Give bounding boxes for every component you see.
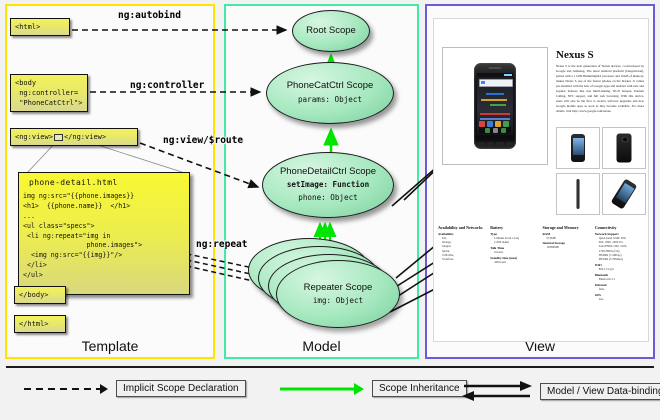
spec-column: Battery Type Lithium Ion (Li-Ion) (1500 … — [490, 225, 539, 301]
thumbnail-item[interactable] — [556, 127, 600, 169]
spec-value: true — [599, 297, 644, 301]
edge-label-controller: ng:controller — [130, 80, 204, 91]
spec-column-header: Storage and Memory — [543, 225, 592, 230]
spec-value: 6 hours — [494, 250, 539, 254]
spec-value: 16384MB — [547, 245, 592, 249]
spec-value: 512MB — [547, 236, 592, 240]
spec-table-columns: Availability and Networks Availability M… — [438, 225, 644, 301]
view-rendered-page: Nexus S Nexus S is the next generation o… — [433, 18, 649, 342]
phone-hero-icon — [474, 63, 516, 149]
legend-item-data-binding: Model / View Data-binding — [462, 380, 660, 402]
spec-value: 802.11 b/g/n — [599, 267, 644, 271]
code-box-html-close: </html> — [14, 315, 66, 333]
ngview-placeholder-icon — [54, 134, 63, 141]
spec-value: false — [599, 287, 644, 291]
phone-front-icon — [571, 134, 585, 162]
spec-column-header: Battery — [490, 225, 539, 230]
scope-node-root: Root Scope — [292, 10, 370, 52]
scope-name-phonedetailctrl: PhoneDetailCtrl Scope — [280, 167, 376, 178]
scope-prop-phone: phone: Object — [298, 193, 357, 203]
app-dock-icon — [479, 127, 511, 134]
code-box-phone-detail: phone-detail.htmlimg ng:src="{{phone.ima… — [18, 172, 190, 295]
thumbnail-grid — [556, 127, 644, 215]
code-box-filename: phone-detail.html — [29, 177, 185, 189]
thumbnail-item[interactable] — [602, 173, 646, 215]
search-widget-icon — [479, 79, 513, 87]
phone-earpiece-icon — [489, 67, 502, 69]
scope-node-phonedetailctrl: PhoneDetailCtrl Scope setImage: Function… — [262, 152, 394, 218]
edge-label-repeat: ng:repeat — [196, 239, 247, 250]
scope-name-repeater: Repeater Scope — [304, 283, 373, 294]
spec-column-header: Availability and Networks — [438, 225, 487, 230]
spec-column: Connectivity Network Support Quad-band G… — [595, 225, 644, 301]
code-box-source: img ng:src="{{phone.images}} <h1> {{phon… — [23, 192, 142, 289]
solid-arrow-icon — [278, 382, 364, 396]
spec-value: (1500 mAh) — [494, 240, 539, 244]
column-label-template: Template — [7, 338, 213, 354]
legend-label: Scope Inheritance — [372, 380, 467, 397]
scope-name-root: Root Scope — [306, 26, 356, 37]
phone-back-icon — [617, 134, 632, 163]
code-box-ngview: <ng:view></ng:view> — [10, 128, 138, 146]
legend-item-scope-inheritance: Scope Inheritance — [278, 380, 467, 397]
scope-prop-setimage-text: setImage: Function — [287, 180, 369, 189]
phone-side-icon — [577, 179, 580, 209]
status-bar-icon — [477, 73, 513, 77]
edge-label-autobind: ng:autobind — [118, 10, 181, 21]
phone-buttons-icon — [477, 142, 513, 147]
column-label-model: Model — [226, 338, 417, 354]
scope-name-phonecatctrl: PhoneCatCtrl Scope — [287, 81, 374, 92]
ngview-close-tag: </ng:view> — [64, 133, 106, 141]
scope-prop-img: img: Object — [313, 296, 363, 305]
ngview-open-tag: <ng:view> — [15, 133, 53, 141]
view-page-title: Nexus S — [556, 49, 594, 61]
spec-value: Vodafone — [442, 257, 487, 261]
view-page-description: Nexus S is the next generation of Nexus … — [556, 64, 644, 114]
legend-label: Model / View Data-binding — [540, 383, 660, 400]
spec-column-header: Connectivity — [595, 225, 644, 230]
legend: Implicit Scope Declaration Scope Inherit… — [0, 364, 660, 420]
thumbnail-item[interactable] — [602, 127, 646, 169]
scope-prop-params: params: Object — [298, 95, 362, 105]
dashed-arrow-icon — [22, 382, 108, 396]
diagram-canvas: Template Model View — [0, 0, 660, 420]
scope-prop-setimage: setImage: Function — [287, 180, 369, 190]
phone-tilted-icon — [611, 178, 638, 209]
edge-label-view-route: ng:view/$route — [163, 135, 243, 146]
phone-screen — [477, 73, 513, 135]
spec-value: 428 hours — [494, 260, 539, 264]
legend-divider — [6, 366, 654, 368]
scope-node-repeater-stack: Repeater Scope img: Object — [248, 238, 398, 338]
hero-image-frame — [442, 47, 548, 165]
spec-table: Availability and Networks Availability M… — [438, 225, 644, 301]
legend-item-implicit-scope: Implicit Scope Declaration — [22, 380, 246, 397]
scope-node-phonecatctrl: PhoneCatCtrl Scope params: Object — [266, 62, 394, 124]
legend-label: Implicit Scope Declaration — [116, 380, 246, 397]
spec-column: Availability and Networks Availability M… — [438, 225, 487, 301]
spec-value: Bluetooth 2.1 — [599, 277, 644, 281]
thumbnail-item[interactable] — [556, 173, 600, 215]
spec-value: HSUPA (5.76Mbps) — [599, 257, 644, 261]
repeater-scope-front: Repeater Scope img: Object — [276, 260, 400, 328]
code-box-body-open: <body ng:controller= "PhoneCatCtrl"> — [10, 74, 88, 112]
spec-column: Storage and Memory RAM 512MB Internal St… — [543, 225, 592, 301]
code-box-html-open: <html> — [10, 18, 70, 36]
double-arrow-icon — [462, 380, 532, 402]
code-box-body-close: </body> — [14, 286, 66, 304]
